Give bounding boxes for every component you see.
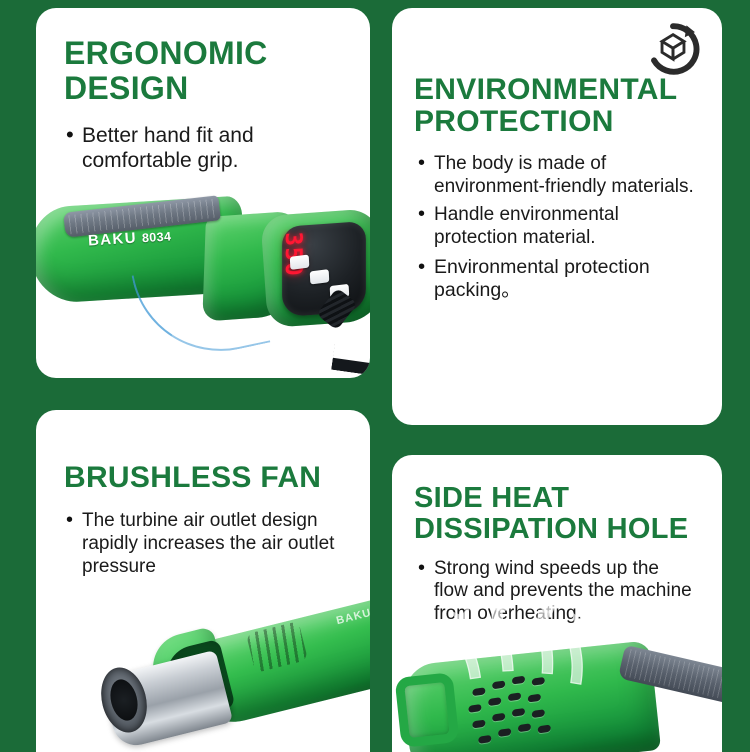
panel-title-side-heat-dissipation-hole: SIDE HEAT DISSIPATION HOLE: [392, 455, 722, 546]
title-line-1: ERGONOMIC: [64, 35, 268, 71]
panel-title-ergonomic-design: ERGONOMIC DESIGN: [36, 8, 370, 105]
control-button-1[interactable]: [290, 255, 310, 270]
panel-ergonomic-design: ERGONOMIC DESIGN Better hand fit and com…: [36, 8, 370, 378]
product-photo-side-vents: [392, 597, 722, 752]
panel-title-brushless-fan: BRUSHLESS FAN: [36, 410, 370, 494]
bullet-list-environmental: The body is made of environment-friendly…: [418, 153, 700, 303]
bullet-list-ergonomic: Better hand fit and comfortable grip.: [66, 123, 321, 173]
list-item: Handle environmental protection material…: [418, 204, 700, 250]
panel-environmental-protection: ENVIRONMENTAL PROTECTION The body is mad…: [392, 8, 722, 425]
title-line-1: BRUSHLESS FAN: [64, 461, 321, 494]
product-photo-nozzle: BAKU: [36, 567, 370, 752]
title-line-1: SIDE HEAT: [414, 482, 569, 514]
list-item: The body is made of environment-friendly…: [418, 153, 700, 199]
airflow-arrow-icon: [486, 597, 516, 674]
title-line-2: DESIGN: [64, 70, 189, 106]
control-button-2[interactable]: [310, 269, 330, 284]
panel-brushless-fan: BRUSHLESS FAN The turbine air outlet des…: [36, 410, 370, 752]
title-line-2: DISSIPATION HOLE: [414, 513, 688, 545]
recycle-package-icon: [646, 22, 700, 76]
list-item: Environmental protection packing。: [418, 256, 700, 303]
list-item: Better hand fit and comfortable grip.: [66, 123, 321, 173]
brand-name: BAKU: [88, 230, 138, 250]
product-feature-collage: ERGONOMIC DESIGN Better hand fit and com…: [0, 0, 750, 750]
hanging-loop: [395, 672, 460, 748]
product-photo-heat-gun-handle: BAKU8034 350: [36, 188, 370, 378]
panel-side-heat-dissipation-hole: SIDE HEAT DISSIPATION HOLE Strong wind s…: [392, 455, 722, 752]
title-line-1: ENVIRONMENTAL: [414, 73, 677, 106]
model-number: 8034: [142, 229, 172, 245]
title-line-2: PROTECTION: [414, 105, 614, 138]
